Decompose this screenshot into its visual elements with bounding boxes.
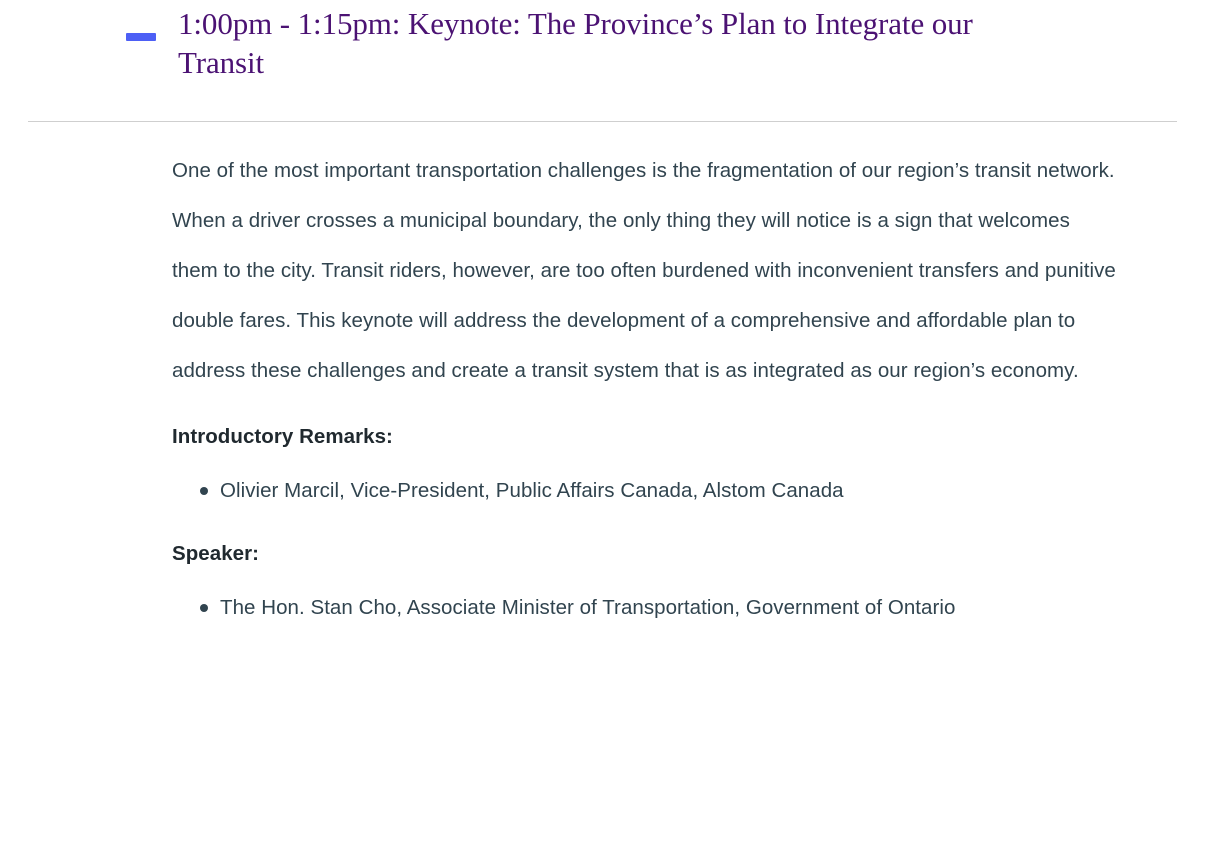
minus-icon[interactable] (126, 33, 156, 41)
header-divider (28, 121, 1177, 122)
bullet-icon (200, 604, 208, 612)
speaker-heading: Speaker: (172, 540, 1145, 568)
session-accordion-header[interactable]: 1:00pm - 1:15pm: Keynote: The Province’s… (0, 0, 1205, 82)
bullet-icon (200, 487, 208, 495)
introductory-remarks-heading: Introductory Remarks: (172, 423, 1145, 451)
page-title[interactable]: 1:00pm - 1:15pm: Keynote: The Province’s… (0, 0, 1080, 82)
speaker-list: The Hon. Stan Cho, Associate Minister of… (172, 586, 1145, 630)
session-description: One of the most important transportation… (172, 146, 1120, 396)
introductory-remarks-list: Olivier Marcil, Vice-President, Public A… (172, 469, 1145, 513)
list-item: The Hon. Stan Cho, Associate Minister of… (220, 586, 1120, 630)
list-item: Olivier Marcil, Vice-President, Public A… (220, 469, 1120, 513)
list-item-label: The Hon. Stan Cho, Associate Minister of… (220, 596, 955, 619)
list-item-label: Olivier Marcil, Vice-President, Public A… (220, 479, 844, 502)
session-body: One of the most important transportation… (0, 146, 1205, 630)
